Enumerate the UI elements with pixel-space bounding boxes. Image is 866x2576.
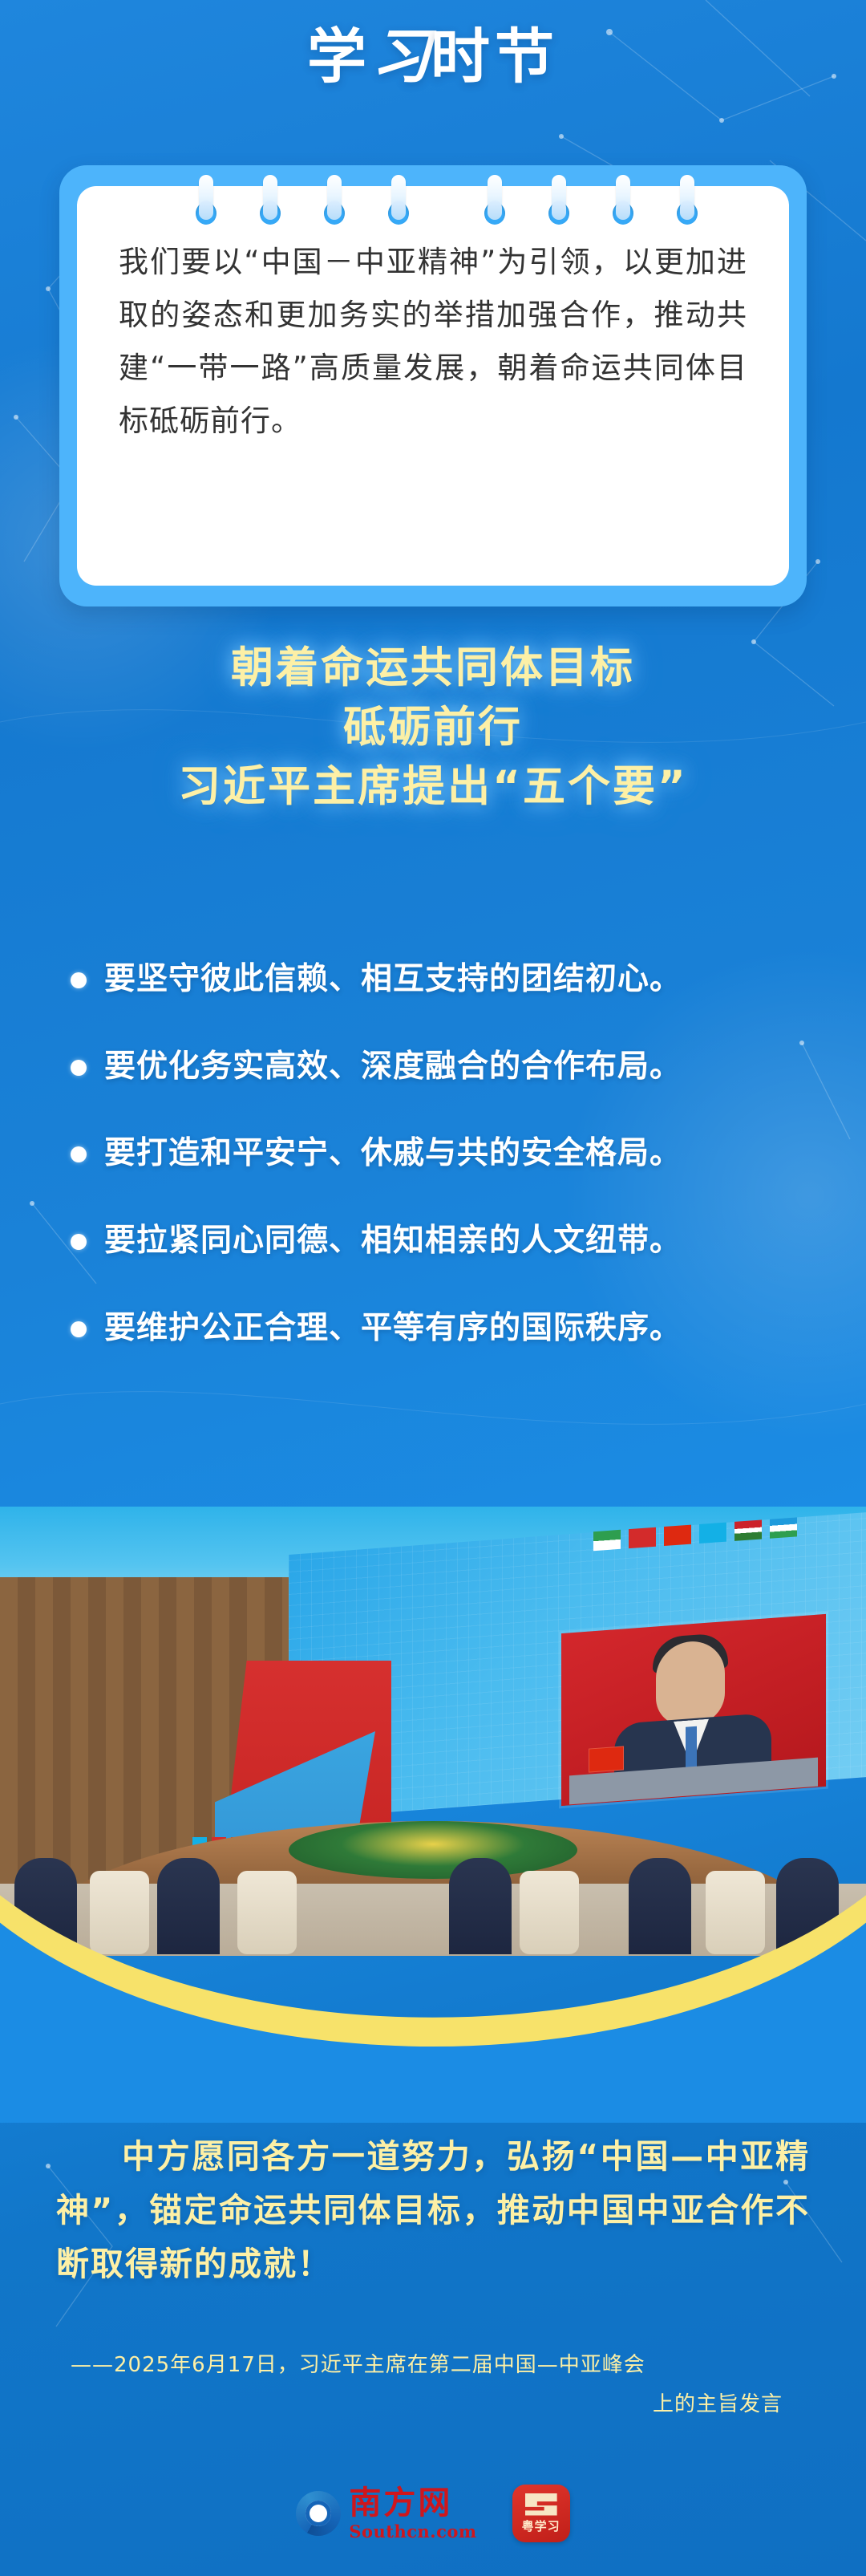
quote-card: 我们要以“中国－中亚精神”为引领，以更加进取的姿态和更加务实的举措加强合作，推动… xyxy=(59,165,807,606)
bullet-dot-icon xyxy=(71,1234,87,1250)
binder-rings xyxy=(59,175,807,231)
flag-icon xyxy=(699,1523,726,1544)
bullet-dot-icon xyxy=(71,972,87,988)
photo-delegate xyxy=(629,1858,691,1954)
photo-chair xyxy=(90,1871,149,1954)
page-title: 学习时节 xyxy=(0,27,866,87)
brand-chars-shijie: 时节 xyxy=(431,22,559,91)
list-item: 要维护公正合理、平等有序的国际秩序。 xyxy=(0,1308,866,1350)
list-item: 要打造和平安宁、休戚与共的安全格局。 xyxy=(0,1133,866,1175)
footer-logos: 南方网 Southcn.com 粤学习 xyxy=(0,2469,866,2558)
photo-chair xyxy=(520,1871,579,1954)
southcn-mark-icon xyxy=(296,2491,341,2536)
photo-screen-video xyxy=(561,1614,826,1806)
bullet-dot-icon xyxy=(71,1321,87,1337)
binder-ring xyxy=(677,175,698,225)
binder-ring xyxy=(548,175,569,225)
photo-speaker-head xyxy=(656,1639,725,1727)
photo-chair xyxy=(706,1871,765,1954)
binder-ring xyxy=(613,175,633,225)
photo-scene xyxy=(0,1507,866,1956)
photo-table-flag-icon xyxy=(589,1746,624,1772)
binder-ring xyxy=(260,175,281,225)
quote-card-body: 我们要以“中国－中亚精神”为引领，以更加进取的姿态和更加务实的举措加强合作，推动… xyxy=(77,186,789,586)
photo-chair xyxy=(237,1871,297,1954)
southcn-name-cn: 南方网 xyxy=(349,2487,476,2519)
binder-ring xyxy=(388,175,409,225)
quote-text: 我们要以“中国－中亚精神”为引领，以更加进取的姿态和更加务实的举措加强合作，推动… xyxy=(119,236,747,447)
photo-delegate xyxy=(776,1858,839,1954)
closing-paragraph-block: 中方愿同各方一道努力，弘扬“中国—中亚精神”，锚定命运共同体目标，推动中国中亚合… xyxy=(56,2130,810,2292)
binder-ring xyxy=(484,175,505,225)
bullet-dot-icon xyxy=(71,1146,87,1162)
binder-ring xyxy=(324,175,345,225)
header: 学习时节 xyxy=(0,0,866,140)
southcn-logo[interactable]: 南方网 Southcn.com xyxy=(296,2487,476,2540)
bullet-dot-icon xyxy=(71,1060,87,1076)
yuexuexi-label: 粤学习 xyxy=(522,2517,560,2534)
flag-icon xyxy=(593,1530,621,1551)
flag-icon xyxy=(734,1520,762,1541)
bullet-text: 要维护公正合理、平等有序的国际秩序。 xyxy=(104,1308,682,1350)
list-item: 要优化务实高效、深度融合的合作布局。 xyxy=(0,1046,866,1089)
yuexuexi-logo[interactable]: 粤学习 xyxy=(512,2485,570,2542)
bullet-text: 要优化务实高效、深度融合的合作布局。 xyxy=(104,1046,682,1089)
bullet-text: 要打造和平安宁、休戚与共的安全格局。 xyxy=(104,1133,682,1175)
brand-char-xi-cursive: 习 xyxy=(371,22,431,91)
photo-speaker-tie xyxy=(686,1726,697,1769)
attribution: ——2025年6月17日，习近平主席在第二届中国—中亚峰会 上的主旨发言 xyxy=(56,2346,810,2425)
flag-icon xyxy=(629,1527,656,1548)
photo-delegate xyxy=(14,1858,77,1954)
attribution-line-1: ——2025年6月17日，习近平主席在第二届中国—中亚峰会 xyxy=(56,2346,810,2385)
summit-photo xyxy=(0,1507,866,1956)
brand-char-xue: 学 xyxy=(307,22,371,91)
yuexuexi-mark-icon xyxy=(525,2493,557,2516)
bullet-text: 要坚守彼此信赖、相互支持的团结初心。 xyxy=(104,959,682,1001)
flag-icon xyxy=(664,1525,691,1546)
headline-block: 朝着命运共同体目标 砥砺前行 习近平主席提出“五个要” xyxy=(0,639,866,817)
headline-line-2: 砥砺前行 xyxy=(0,698,866,757)
quote-card-frame: 我们要以“中国－中亚精神”为引领，以更加进取的姿态和更加务实的举措加强合作，推动… xyxy=(59,165,807,606)
southcn-name-en: Southcn.com xyxy=(349,2523,476,2540)
bullet-text: 要拉紧同心同德、相知相亲的人文纽带。 xyxy=(104,1220,682,1263)
photo-delegate xyxy=(449,1858,512,1954)
list-item: 要坚守彼此信赖、相互支持的团结初心。 xyxy=(0,959,866,1001)
list-item: 要拉紧同心同德、相知相亲的人文纽带。 xyxy=(0,1220,866,1263)
headline-line-1: 朝着命运共同体目标 xyxy=(0,639,866,698)
headline-line-3: 习近平主席提出“五个要” xyxy=(0,757,866,817)
closing-paragraph: 中方愿同各方一道努力，弘扬“中国—中亚精神”，锚定命运共同体目标，推动中国中亚合… xyxy=(56,2130,810,2292)
poster-root: 学习时节 我们要以“中国－中亚精神”为引领，以更加进取的姿态和更加务实的举措加强… xyxy=(0,0,866,2576)
flag-icon xyxy=(770,1517,797,1538)
photo-delegate xyxy=(157,1858,220,1954)
bullet-list: 要坚守彼此信赖、相互支持的团结初心。 要优化务实高效、深度融合的合作布局。 要打… xyxy=(0,959,866,1394)
binder-ring xyxy=(196,175,216,225)
attribution-line-2: 上的主旨发言 xyxy=(56,2385,810,2424)
southcn-wordmark: 南方网 Southcn.com xyxy=(349,2487,476,2540)
